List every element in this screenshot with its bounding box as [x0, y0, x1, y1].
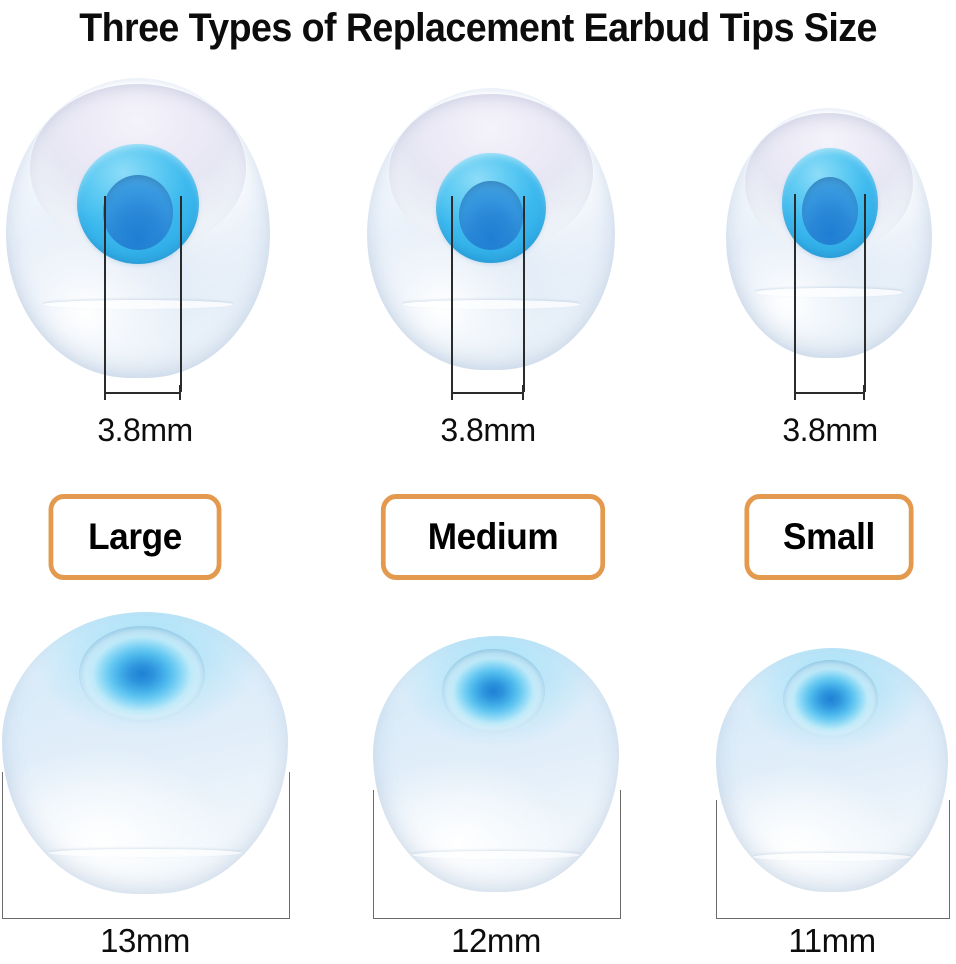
dimension-leader-left — [794, 194, 796, 392]
tip-seam-line — [402, 300, 581, 309]
earbud-tip-medium-top-view — [367, 88, 615, 370]
width-dimension-label: 11mm — [690, 922, 956, 960]
size-column-medium: 3.8mm Medium 12mm — [345, 0, 655, 964]
bore-dimension-bar — [794, 392, 865, 394]
tip-funnel-opening — [442, 649, 545, 733]
earbud-tip-small-top-view — [726, 108, 932, 358]
tip-inner-bore — [459, 181, 522, 249]
tip-inner-bore — [103, 175, 173, 249]
width-dimension-bracket — [373, 790, 621, 919]
bore-dimension-label: 3.8mm — [0, 412, 290, 449]
size-badge-small[interactable]: Small — [744, 494, 913, 580]
width-dimension-bracket — [716, 800, 950, 919]
size-badge-medium[interactable]: Medium — [381, 494, 605, 580]
bore-dimension-label: 3.8mm — [345, 412, 631, 449]
tip-funnel-opening — [79, 626, 205, 722]
size-column-large: 3.8mm Large 13mm — [0, 0, 330, 964]
size-badge-large[interactable]: Large — [49, 494, 222, 580]
tip-inner-bore — [802, 177, 858, 245]
earbud-tip-large-top-view — [6, 78, 270, 378]
dimension-leader-left — [104, 196, 106, 392]
tip-cyan-stem — [436, 153, 545, 263]
dimension-leader-left — [451, 196, 453, 392]
dimension-leader-right — [864, 194, 866, 392]
bore-dimension-bar — [104, 392, 181, 394]
width-dimension-label: 12mm — [345, 922, 647, 960]
tip-seam-line — [43, 300, 233, 309]
bore-dimension-bar — [451, 392, 524, 394]
width-dimension-label: 13mm — [0, 922, 290, 960]
tip-funnel-opening — [783, 660, 878, 738]
tip-seam-line — [755, 288, 903, 297]
bore-dimension-label: 3.8mm — [690, 412, 956, 449]
width-dimension-bracket — [2, 772, 290, 919]
size-column-small: 3.8mm Small 11mm — [690, 0, 956, 964]
dimension-leader-right — [180, 196, 182, 392]
dimension-leader-right — [523, 196, 525, 392]
